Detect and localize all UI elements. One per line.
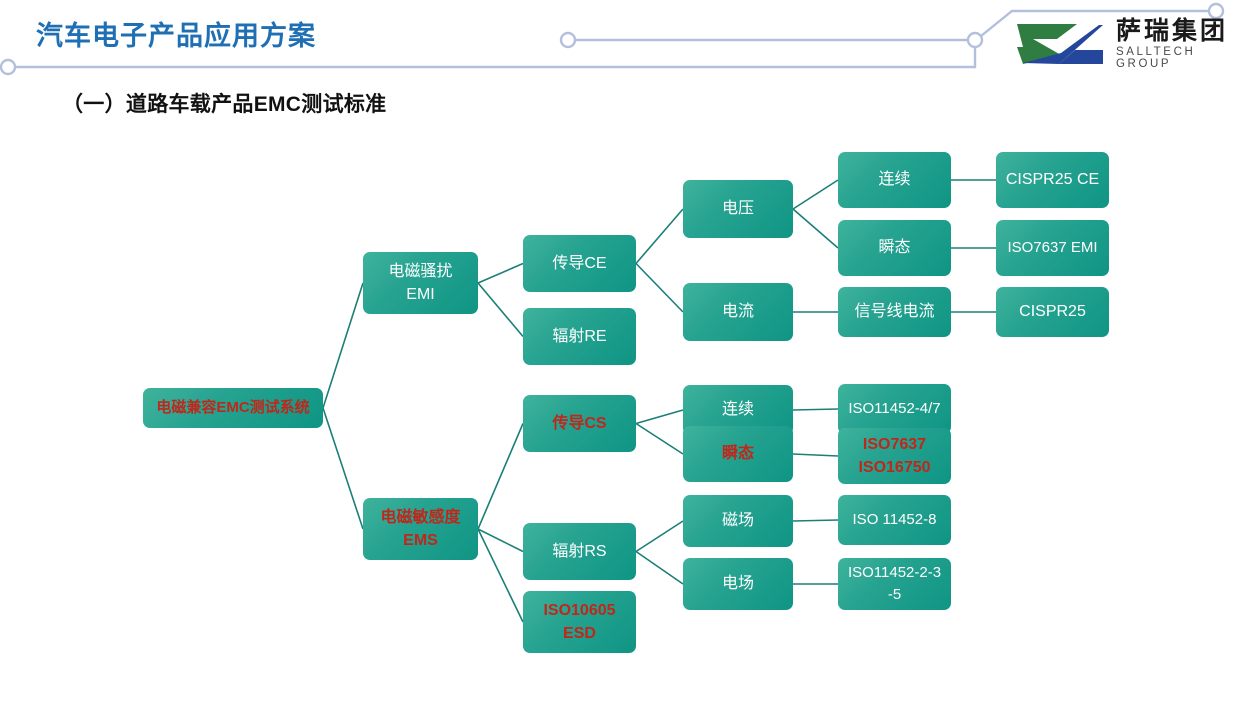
diagram-node-label: 电流 xyxy=(722,300,754,323)
diagram-node-iso7637emi: ISO7637 EMI xyxy=(996,220,1109,276)
edge-voltage-to-cont xyxy=(793,180,838,209)
diagram-node-label: EMS xyxy=(403,529,438,552)
logo-chinese-name: 萨瑞集团 xyxy=(1116,18,1243,43)
diagram-node-label: 电磁骚扰 xyxy=(388,260,452,283)
diagram-node-cont: 连续 xyxy=(838,152,951,208)
diagram-node-cs: 传导CS xyxy=(523,395,636,452)
diagram-node-label: 辐射RS xyxy=(552,540,606,563)
diagram-node-label: 辐射RE xyxy=(552,325,606,348)
diagram-node-cispr25: CISPR25 xyxy=(996,287,1109,337)
edge-ce-to-current xyxy=(636,264,683,313)
diagram-node-label: 连续 xyxy=(878,168,910,191)
edge-ems-to-rs xyxy=(478,529,523,552)
logo-text-block: 萨瑞集团 SALLTECH GROUP xyxy=(1116,18,1243,70)
diagram-node-label: ISO11452-2-3 xyxy=(848,562,941,584)
diagram-node-label: EMI xyxy=(406,283,434,306)
page-header: 汽车电子产品应用方案 萨瑞集团 SALLTECH GROUP xyxy=(0,0,1255,86)
edge-voltage-to-trans xyxy=(793,209,838,248)
edge-root-to-ems xyxy=(323,408,363,529)
emc-test-tree-diagram: 电磁兼容EMC测试系统电磁骚扰EMI电磁敏感度EMS传导CE辐射RE传导CS辐射… xyxy=(0,130,1255,690)
diagram-node-label: -5 xyxy=(888,584,901,606)
diagram-node-label: ISO10605 xyxy=(543,599,615,622)
diagram-node-label: ISO7637 EMI xyxy=(1007,237,1097,259)
diagram-node-cispr25ce: CISPR25 CE xyxy=(996,152,1109,208)
diagram-node-label: ISO11452-4/7 xyxy=(848,398,940,420)
diagram-node-rs-mag: 磁场 xyxy=(683,495,793,547)
edge-cs-trans-to-iso7637-16750 xyxy=(793,454,838,456)
diagram-node-voltage: 电压 xyxy=(683,180,793,238)
diagram-node-label: 瞬态 xyxy=(878,236,910,259)
edge-emi-to-ce xyxy=(478,264,523,284)
edge-cs-to-cs-trans xyxy=(636,424,683,455)
edge-cs-cont-to-iso11452-47 xyxy=(793,409,838,410)
edge-rs-to-rs-mag xyxy=(636,521,683,552)
edge-emi-to-re xyxy=(478,283,523,337)
diagram-node-re: 辐射RE xyxy=(523,308,636,365)
edge-rs-to-rs-elec xyxy=(636,552,683,585)
diagram-node-label: 电场 xyxy=(722,572,754,595)
diagram-node-iso7637-16750: ISO7637ISO16750 xyxy=(838,428,951,484)
diagram-node-label: 传导CE xyxy=(552,252,606,275)
diagram-node-rs: 辐射RS xyxy=(523,523,636,580)
diagram-node-rs-elec: 电场 xyxy=(683,558,793,610)
diagram-node-label: ISO16750 xyxy=(858,456,930,479)
diagram-node-esd: ISO10605ESD xyxy=(523,591,636,653)
diagram-node-label: 连续 xyxy=(722,398,754,421)
diagram-node-emi: 电磁骚扰EMI xyxy=(363,252,478,314)
edge-cs-to-cs-cont xyxy=(636,410,683,424)
diagram-node-cs-trans: 瞬态 xyxy=(683,426,793,482)
diagram-node-trans: 瞬态 xyxy=(838,220,951,276)
diagram-node-label: CISPR25 CE xyxy=(1006,168,1099,191)
diagram-node-label: ISO 11452-8 xyxy=(853,509,937,531)
diagram-node-label: 电压 xyxy=(722,197,754,220)
diagram-node-label: 电磁兼容EMC测试系统 xyxy=(156,397,309,419)
edge-ce-to-voltage xyxy=(636,209,683,264)
diagram-node-ce: 传导CE xyxy=(523,235,636,292)
company-logo: 萨瑞集团 SALLTECH GROUP xyxy=(1013,20,1243,68)
diagram-node-iso11452-47: ISO11452-4/7 xyxy=(838,384,951,434)
diagram-node-iso11452-235: ISO11452-2-3-5 xyxy=(838,558,951,610)
diagram-node-label: 电磁敏感度 xyxy=(380,506,460,529)
diagram-node-ems: 电磁敏感度EMS xyxy=(363,498,478,560)
diagram-node-sigline: 信号线电流 xyxy=(838,287,951,337)
section-heading: （一）道路车载产品EMC测试标准 xyxy=(62,88,386,118)
edge-ems-to-cs xyxy=(478,424,523,530)
diagram-node-label: 信号线电流 xyxy=(854,300,934,323)
diagram-node-label: 瞬态 xyxy=(722,442,754,465)
logo-english-name: SALLTECH GROUP xyxy=(1116,47,1243,70)
diagram-node-label: ISO7637 xyxy=(863,433,926,456)
diagram-node-label: CISPR25 xyxy=(1019,300,1086,323)
diagram-node-iso11452-8: ISO 11452-8 xyxy=(838,495,951,545)
salltech-logo-mark-icon xyxy=(1013,22,1107,66)
edge-root-to-emi xyxy=(323,283,363,408)
diagram-node-root: 电磁兼容EMC测试系统 xyxy=(143,388,323,428)
page-title: 汽车电子产品应用方案 xyxy=(36,14,316,53)
edge-ems-to-esd xyxy=(478,529,523,622)
diagram-node-label: 传导CS xyxy=(552,412,606,435)
diagram-node-label: 磁场 xyxy=(722,509,754,532)
diagram-node-current: 电流 xyxy=(683,283,793,341)
diagram-node-label: ESD xyxy=(563,622,596,645)
edge-rs-mag-to-iso11452-8 xyxy=(793,520,838,521)
